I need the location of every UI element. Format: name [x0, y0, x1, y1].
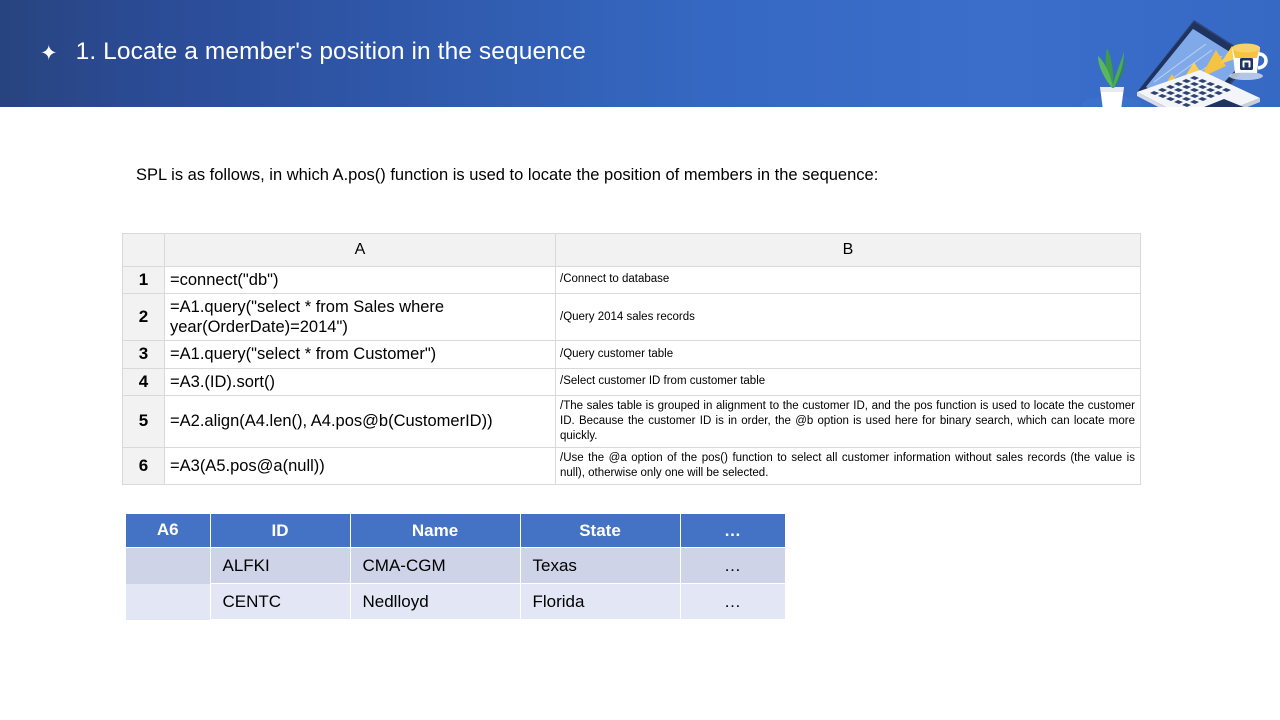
row-number: 5 — [123, 395, 165, 448]
column-header-more: … — [680, 514, 785, 548]
cell-b: /Query 2014 sales records — [556, 294, 1141, 341]
row-spacer — [126, 548, 210, 584]
banner-title-row: ✦ 1. Locate a member's position in the s… — [40, 38, 586, 66]
four-point-star-icon: ✦ — [40, 43, 58, 64]
intro-paragraph: SPL is as follows, in which A.pos() func… — [136, 166, 878, 185]
cell-a: =A1.query("select * from Sales where yea… — [165, 294, 556, 341]
cell-state: Florida — [520, 584, 680, 620]
cell-b: /The sales table is grouped in alignment… — [556, 395, 1141, 448]
result-cell-reference: A6 — [126, 514, 210, 548]
cell-a: =A1.query("select * from Customer") — [165, 341, 556, 368]
table-row: 1 =connect("db") /Connect to database — [123, 267, 1141, 294]
slide-header-banner: ✦ 1. Locate a member's position in the s… — [0, 0, 1280, 107]
cell-state: Texas — [520, 548, 680, 584]
cell-name: CMA-CGM — [350, 548, 520, 584]
code-table-header-blank — [123, 234, 165, 267]
cell-a: =A3.(ID).sort() — [165, 368, 556, 395]
column-header-state: State — [520, 514, 680, 548]
cell-a: =A3(A5.pos@a(null)) — [165, 448, 556, 485]
page-title: 1. Locate a member's position in the seq… — [76, 38, 586, 66]
cell-b: /Query customer table — [556, 341, 1141, 368]
code-table-header-a: A — [165, 234, 556, 267]
cell-b: /Use the @a option of the pos() function… — [556, 448, 1141, 485]
table-row: 6 =A3(A5.pos@a(null)) /Use the @a option… — [123, 448, 1141, 485]
cell-b: /Select customer ID from customer table — [556, 368, 1141, 395]
code-table-header-b: B — [556, 234, 1141, 267]
column-header-name: Name — [350, 514, 520, 548]
table-row: 4 =A3.(ID).sort() /Select customer ID fr… — [123, 368, 1141, 395]
table-row: 5 =A2.align(A4.len(), A4.pos@b(CustomerI… — [123, 395, 1141, 448]
cell-b: /Connect to database — [556, 267, 1141, 294]
row-spacer — [126, 584, 210, 620]
cell-id: ALFKI — [210, 548, 350, 584]
row-number: 6 — [123, 448, 165, 485]
row-number: 1 — [123, 267, 165, 294]
column-header-id: ID — [210, 514, 350, 548]
cell-a: =A2.align(A4.len(), A4.pos@b(CustomerID)… — [165, 395, 556, 448]
table-row: 2 =A1.query("select * from Sales where y… — [123, 294, 1141, 341]
result-table-header-row: A6 ID Name State … — [126, 514, 785, 548]
code-table-header-row: A B — [123, 234, 1141, 267]
row-number: 4 — [123, 368, 165, 395]
cell-more: … — [680, 584, 785, 620]
spl-code-table: A B 1 =connect("db") /Connect to databas… — [122, 233, 1141, 485]
cell-a: =connect("db") — [165, 267, 556, 294]
table-row: ALFKI CMA-CGM Texas … — [126, 548, 785, 584]
isometric-laptop-illustration — [1054, 0, 1274, 107]
cell-id: CENTC — [210, 584, 350, 620]
row-number: 2 — [123, 294, 165, 341]
table-row: 3 =A1.query("select * from Customer") /Q… — [123, 341, 1141, 368]
table-row: CENTC Nedlloyd Florida … — [126, 584, 785, 620]
cell-more: … — [680, 548, 785, 584]
cell-name: Nedlloyd — [350, 584, 520, 620]
result-preview-table: A6 ID Name State … ALFKI CMA-CGM Texas …… — [126, 513, 786, 620]
row-number: 3 — [123, 341, 165, 368]
